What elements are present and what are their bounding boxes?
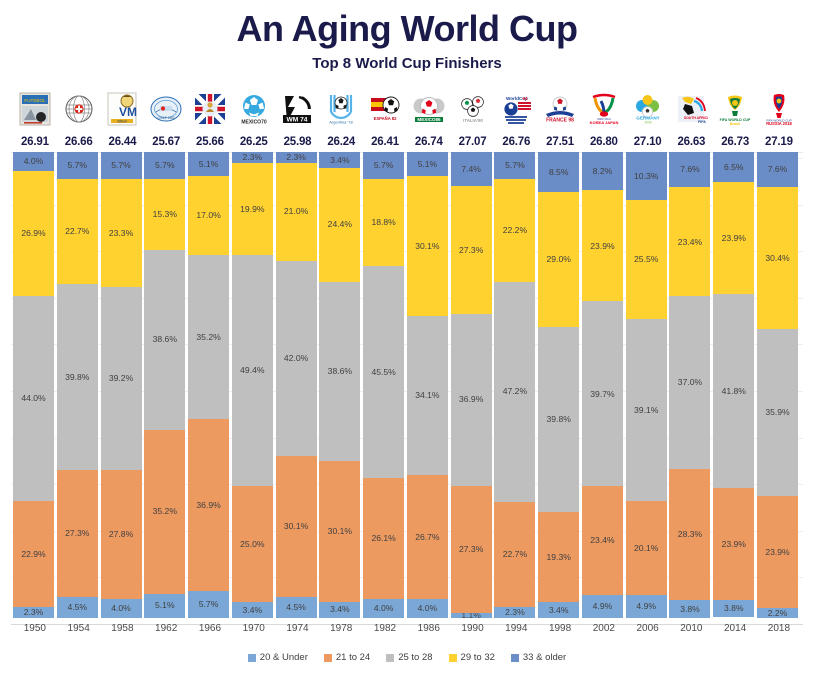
- x-axis-year-label: 1998: [538, 618, 582, 639]
- world-cup-logo-2014-brazil: FIFA WORLD CUPBrasil: [718, 92, 752, 126]
- legend-label: 21 to 24: [336, 652, 370, 663]
- segment-value-label: 23.9%: [765, 548, 789, 557]
- bar-segment-21-to-24[interactable]: 27.3%: [451, 486, 492, 613]
- world-cup-logo-1978-argentina: Argentina '78: [324, 92, 358, 126]
- world-cup-logo-1978-argentina: Argentina '78: [319, 86, 363, 131]
- world-cup-logo-1958-sweden: VMfotboll: [101, 86, 145, 131]
- bar-segment-25-to-28[interactable]: 39.2%: [101, 287, 142, 470]
- stacked-bar[interactable]: 4.0%26.9%44.0%22.9%2.3%: [13, 152, 54, 618]
- segment-value-label: 39.2%: [109, 374, 133, 383]
- bar-segment-25-to-28[interactable]: 41.8%: [713, 294, 754, 489]
- world-cup-logo-1974-west-germany: WM 74: [280, 92, 314, 126]
- bar-segment-21-to-24[interactable]: 27.3%: [57, 470, 98, 597]
- segment-value-label: 39.8%: [547, 415, 571, 424]
- segment-value-label: 37.0%: [678, 378, 702, 387]
- world-cup-logo-1998-france: FRANCE 98: [538, 86, 582, 131]
- segment-value-label: 18.8%: [371, 218, 395, 227]
- stacked-bar[interactable]: 5.7%22.2%47.2%22.7%2.3%: [494, 152, 535, 618]
- segment-value-label: 5.7%: [155, 161, 175, 170]
- bar-segment-21-to-24[interactable]: 22.9%: [13, 501, 54, 608]
- bar-segment-29-to-32[interactable]: 30.4%: [757, 187, 798, 329]
- segment-value-label: 36.9%: [459, 395, 483, 404]
- x-axis-year-label: 1982: [363, 618, 407, 639]
- segment-value-label: 29.0%: [547, 255, 571, 264]
- bar-segment-29-to-32[interactable]: 23.3%: [101, 179, 142, 288]
- bar-segment-25-to-28[interactable]: 35.9%: [757, 329, 798, 496]
- segment-value-label: 35.2%: [196, 333, 220, 342]
- segment-value-label: 5.7%: [67, 161, 87, 170]
- segment-value-label: 4.0%: [374, 604, 394, 613]
- segment-value-label: 15.3%: [153, 210, 177, 219]
- stacked-bar[interactable]: 5.1%17.0%35.2%36.9%5.7%: [188, 152, 229, 618]
- segment-value-label: 2.3%: [24, 608, 44, 617]
- svg-text:WM 74: WM 74: [287, 116, 308, 123]
- world-cup-logo-2002-korea-japan: 2002 FIFAKOREA JAPAN: [587, 92, 621, 126]
- bar-segment-20-under[interactable]: 4.0%: [101, 599, 142, 618]
- tournament-column: ESPAÑA 8226.415.7%18.8%45.5%26.1%4.0%198…: [363, 86, 407, 639]
- segment-value-label: 4.0%: [24, 157, 44, 166]
- bar-segment-21-to-24[interactable]: 35.2%: [144, 430, 185, 594]
- bar-segment-25-to-28[interactable]: 35.2%: [188, 255, 229, 419]
- svg-text:94: 94: [523, 96, 529, 101]
- tournament-column: MEXICO7026.252.3%19.9%49.4%25.0%3.4%1970: [232, 86, 276, 639]
- world-cup-logo-1954-switzerland: [57, 86, 101, 131]
- tournament-column: WorldCup9426.765.7%22.2%47.2%22.7%2.3%19…: [494, 86, 538, 639]
- svg-text:ITALIA'90: ITALIA'90: [463, 118, 483, 123]
- world-cup-logo-1958-sweden: VMfotboll: [105, 92, 139, 126]
- bar-segment-25-to-28[interactable]: 38.6%: [144, 250, 185, 430]
- x-axis-year-label: 1978: [319, 618, 363, 639]
- bar-segment-21-to-24[interactable]: 26.7%: [407, 475, 448, 599]
- segment-value-label: 30.1%: [415, 242, 439, 251]
- bar-segment-20-under[interactable]: 4.9%: [626, 595, 667, 618]
- legend-swatch-icon: [324, 654, 332, 662]
- segment-value-label: 28.3%: [678, 530, 702, 539]
- tournament-column: MEXICO8626.745.1%30.1%34.1%26.7%4.0%1986: [407, 86, 451, 639]
- bar-segment-29-to-32[interactable]: 27.3%: [451, 186, 492, 313]
- average-age-value: 26.24: [319, 131, 363, 152]
- bar-segment-29-to-32[interactable]: 23.9%: [713, 182, 754, 293]
- bar-segment-33-older[interactable]: 4.0%: [13, 152, 54, 171]
- segment-value-label: 4.9%: [593, 602, 613, 611]
- bar-segment-29-to-32[interactable]: 30.1%: [407, 176, 448, 316]
- legend-item[interactable]: 33 & older: [511, 652, 566, 663]
- x-axis-year-label: 1954: [57, 618, 101, 639]
- x-axis-year-label: 1974: [276, 618, 320, 639]
- segment-value-label: 23.9%: [722, 234, 746, 243]
- segment-value-label: 3.8%: [724, 604, 744, 613]
- bar-segment-20-under[interactable]: 3.8%: [669, 600, 710, 618]
- world-cup-logo-2010-south-africa: SOUTH AFRICAFIFA: [674, 92, 708, 126]
- average-age-value: 27.51: [538, 131, 582, 152]
- x-axis-year-label: 1994: [494, 618, 538, 639]
- segment-value-label: 22.2%: [503, 226, 527, 235]
- bar-segment-21-to-24[interactable]: 23.4%: [582, 486, 623, 595]
- svg-text:2006: 2006: [644, 120, 651, 124]
- bar-segment-20-under[interactable]: 2.3%: [13, 607, 54, 618]
- average-age-value: 26.25: [232, 131, 276, 152]
- bar-segment-33-older[interactable]: 5.1%: [188, 152, 229, 176]
- segment-value-label: 20.1%: [634, 544, 658, 553]
- segment-value-label: 38.6%: [328, 367, 352, 376]
- stacked-bar[interactable]: 2.3%21.0%42.0%30.1%4.5%: [276, 152, 317, 618]
- bar-segment-29-to-32[interactable]: 15.3%: [144, 179, 185, 250]
- bar-segment-20-under[interactable]: 5.7%: [188, 591, 229, 618]
- stacked-bar[interactable]: 5.1%30.1%34.1%26.7%4.0%: [407, 152, 448, 618]
- legend-label: 33 & older: [523, 652, 566, 663]
- tournament-column: FUTEBOL26.914.0%26.9%44.0%22.9%2.3%1950: [13, 86, 57, 639]
- tournament-column: CHILE 196225.675.7%15.3%38.6%35.2%5.1%19…: [144, 86, 188, 639]
- segment-value-label: 22.7%: [503, 550, 527, 559]
- legend-label: 20 & Under: [260, 652, 308, 663]
- bar-segment-20-under[interactable]: 4.9%: [582, 595, 623, 618]
- segment-value-label: 2.3%: [286, 153, 306, 162]
- average-age-value: 26.41: [363, 131, 407, 152]
- world-cup-logo-1974-west-germany: WM 74: [276, 86, 320, 131]
- segment-value-label: 5.1%: [199, 160, 219, 169]
- segment-value-label: 35.9%: [765, 408, 789, 417]
- segment-value-label: 38.6%: [153, 335, 177, 344]
- legend-swatch-icon: [511, 654, 519, 662]
- bar-segment-21-to-24[interactable]: 25.0%: [232, 486, 273, 603]
- segment-value-label: 3.4%: [330, 605, 350, 614]
- bar-segment-33-older[interactable]: 5.7%: [57, 152, 98, 179]
- segment-value-label: 26.7%: [415, 533, 439, 542]
- svg-text:FUTEBOL: FUTEBOL: [24, 98, 46, 103]
- segment-value-label: 42.0%: [284, 354, 308, 363]
- segment-value-label: 4.0%: [111, 604, 131, 613]
- segment-value-label: 19.3%: [547, 553, 571, 562]
- segment-value-label: 39.1%: [634, 406, 658, 415]
- bar-segment-29-to-32[interactable]: 21.0%: [276, 163, 317, 261]
- segment-value-label: 4.0%: [418, 604, 438, 613]
- bar-segment-20-under[interactable]: 4.0%: [407, 599, 448, 618]
- x-axis-year-label: 2014: [713, 618, 757, 639]
- bar-segment-33-older[interactable]: 2.3%: [276, 152, 317, 163]
- bar-segment-29-to-32[interactable]: 17.0%: [188, 176, 229, 255]
- segment-value-label: 30.1%: [284, 522, 308, 531]
- segment-value-label: 22.7%: [65, 227, 89, 236]
- bar-segment-20-under[interactable]: 1.1%: [451, 613, 492, 618]
- bar-segment-21-to-24[interactable]: 20.1%: [626, 501, 667, 595]
- segment-value-label: 19.9%: [240, 205, 264, 214]
- world-cup-logo-1966-england: [188, 86, 232, 131]
- segment-value-label: 5.1%: [155, 601, 175, 610]
- stacked-bar[interactable]: 5.7%22.7%39.8%27.3%4.5%: [57, 152, 98, 618]
- bar-segment-25-to-28[interactable]: 39.8%: [57, 284, 98, 469]
- segment-value-label: 23.3%: [109, 229, 133, 238]
- bar-segment-33-older[interactable]: 5.7%: [144, 152, 185, 179]
- bar-segment-25-to-28[interactable]: 42.0%: [276, 261, 317, 457]
- bar-segment-20-under[interactable]: 5.1%: [144, 594, 185, 618]
- bar-segment-20-under[interactable]: 3.8%: [713, 600, 754, 618]
- world-cup-logo-2018-russia: FIFA WORLD CUPRUSSIA 2018: [762, 92, 796, 126]
- bar-segment-33-older[interactable]: 5.7%: [363, 152, 404, 179]
- x-axis-year-label: 1986: [407, 618, 451, 639]
- segment-value-label: 8.2%: [593, 167, 613, 176]
- chart-legend: 20 & Under21 to 2425 to 2829 to 3233 & o…: [0, 652, 814, 663]
- segment-value-label: 2.3%: [243, 153, 263, 162]
- stacked-bar[interactable]: 2.3%19.9%49.4%25.0%3.4%: [232, 152, 273, 618]
- svg-text:fotboll: fotboll: [118, 119, 127, 123]
- world-cup-logo-2014-brazil: FIFA WORLD CUPBrasil: [713, 86, 757, 131]
- tournament-column: Argentina '7826.243.4%24.4%38.6%30.1%3.4…: [319, 86, 363, 639]
- average-age-value: 26.66: [57, 131, 101, 152]
- bar-segment-29-to-32[interactable]: 22.7%: [57, 179, 98, 285]
- segment-value-label: 27.3%: [459, 545, 483, 554]
- svg-text:KOREA JAPAN: KOREA JAPAN: [589, 120, 618, 125]
- tournament-column: 2002 FIFAKOREA JAPAN26.808.2%23.9%39.7%2…: [582, 86, 626, 639]
- stacked-bar[interactable]: 7.6%23.4%37.0%28.3%3.8%: [669, 152, 710, 618]
- segment-value-label: 10.3%: [634, 172, 658, 181]
- svg-text:VM: VM: [119, 105, 137, 119]
- segment-value-label: 35.2%: [153, 507, 177, 516]
- world-cup-logo-1970-mexico: MEXICO70: [232, 86, 276, 131]
- world-cup-logo-1970-mexico: MEXICO70: [237, 92, 271, 126]
- bar-segment-29-to-32[interactable]: 25.5%: [626, 200, 667, 319]
- average-age-value: 26.91: [13, 131, 57, 152]
- average-age-value: 25.67: [144, 131, 188, 152]
- average-age-value: 27.10: [626, 131, 670, 152]
- bar-segment-21-to-24[interactable]: 22.7%: [494, 502, 535, 608]
- tournament-column: FIFA WORLD CUPBrasil26.736.5%23.9%41.8%2…: [713, 86, 757, 639]
- tournament-column: GERMANY200627.1010.3%25.5%39.1%20.1%4.9%…: [626, 86, 670, 639]
- stacked-bar[interactable]: 5.7%23.3%39.2%27.8%4.0%: [101, 152, 142, 618]
- bar-segment-21-to-24[interactable]: 19.3%: [538, 512, 579, 602]
- x-axis-year-label: 1950: [13, 618, 57, 639]
- average-age-value: 26.80: [582, 131, 626, 152]
- world-cup-logo-1982-spain: ESPAÑA 82: [363, 86, 407, 131]
- segment-value-label: 5.1%: [418, 160, 438, 169]
- segment-value-label: 1.1%: [461, 613, 481, 618]
- segment-value-label: 4.9%: [636, 602, 656, 611]
- world-cup-logo-1954-switzerland: [62, 92, 96, 126]
- segment-value-label: 39.7%: [590, 390, 614, 399]
- segment-value-label: 34.1%: [415, 391, 439, 400]
- bar-segment-21-to-24[interactable]: 30.1%: [319, 461, 360, 601]
- svg-text:RUSSIA 2018: RUSSIA 2018: [766, 121, 792, 126]
- bar-segment-20-under[interactable]: 3.4%: [232, 602, 273, 618]
- bar-segment-29-to-32[interactable]: 23.9%: [582, 190, 623, 301]
- page-title: An Aging World Cup: [0, 8, 814, 50]
- bar-segment-20-under[interactable]: 4.0%: [363, 599, 404, 618]
- bar-segment-25-to-28[interactable]: 37.0%: [669, 296, 710, 468]
- bar-segment-29-to-32[interactable]: 23.4%: [669, 187, 710, 296]
- bar-segment-20-under[interactable]: 3.4%: [319, 602, 360, 618]
- bar-segment-25-to-28[interactable]: 39.8%: [538, 327, 579, 512]
- bar-segment-21-to-24[interactable]: 36.9%: [188, 419, 229, 591]
- bar-segment-29-to-32[interactable]: 22.2%: [494, 179, 535, 282]
- segment-value-label: 5.7%: [505, 161, 525, 170]
- stacked-bar[interactable]: 8.2%23.9%39.7%23.4%4.9%: [582, 152, 623, 618]
- bar-segment-25-to-28[interactable]: 45.5%: [363, 266, 404, 478]
- bar-segment-25-to-28[interactable]: 47.2%: [494, 282, 535, 502]
- x-axis-year-label: 1970: [232, 618, 276, 639]
- bar-segment-33-older[interactable]: 5.1%: [407, 152, 448, 176]
- x-axis-year-label: 2002: [582, 618, 626, 639]
- legend-label: 25 to 28: [398, 652, 432, 663]
- world-cup-logo-1986-mexico: MEXICO86: [407, 86, 451, 131]
- segment-value-label: 5.7%: [374, 161, 394, 170]
- bar-segment-33-older[interactable]: 7.4%: [451, 152, 492, 186]
- average-age-value: 26.76: [494, 131, 538, 152]
- world-cup-logo-1962-chile: CHILE 1962: [149, 92, 183, 126]
- bar-segment-25-to-28[interactable]: 36.9%: [451, 314, 492, 486]
- segment-value-label: 6.5%: [724, 163, 744, 172]
- stacked-bar[interactable]: 8.5%29.0%39.8%19.3%3.4%: [538, 152, 579, 618]
- chart-canvas: An Aging World Cup Top 8 World Cup Finis…: [0, 0, 814, 675]
- bar-segment-21-to-24[interactable]: 26.1%: [363, 478, 404, 600]
- bar-segment-21-to-24[interactable]: 23.9%: [713, 488, 754, 599]
- stacked-bar[interactable]: 5.7%18.8%45.5%26.1%4.0%: [363, 152, 404, 618]
- svg-text:FIFA: FIFA: [698, 120, 706, 124]
- bar-segment-20-under[interactable]: 2.2%: [757, 608, 798, 618]
- stacked-bar[interactable]: 10.3%25.5%39.1%20.1%4.9%: [626, 152, 667, 618]
- average-age-value: 27.19: [757, 131, 801, 152]
- bar-segment-25-to-28[interactable]: 34.1%: [407, 316, 448, 475]
- segment-value-label: 21.0%: [284, 207, 308, 216]
- stacked-bar[interactable]: 3.4%24.4%38.6%30.1%3.4%: [319, 152, 360, 618]
- segment-value-label: 39.8%: [65, 373, 89, 382]
- segment-value-label: 30.4%: [765, 254, 789, 263]
- x-axis-year-label: 2018: [757, 618, 801, 639]
- segment-value-label: 22.9%: [21, 550, 45, 559]
- segment-value-label: 23.4%: [590, 536, 614, 545]
- world-cup-logo-2010-south-africa: SOUTH AFRICAFIFA: [669, 86, 713, 131]
- bar-segment-25-to-28[interactable]: 39.1%: [626, 319, 667, 501]
- segment-value-label: 23.4%: [678, 238, 702, 247]
- average-age-value: 27.07: [451, 131, 495, 152]
- segment-value-label: 7.4%: [461, 165, 481, 174]
- bar-segment-29-to-32[interactable]: 24.4%: [319, 168, 360, 282]
- segment-value-label: 7.6%: [680, 165, 700, 174]
- bar-segment-33-older[interactable]: 8.2%: [582, 152, 623, 190]
- segment-value-label: 2.3%: [505, 608, 525, 617]
- segment-value-label: 45.5%: [371, 368, 395, 377]
- bar-segment-33-older[interactable]: 8.5%: [538, 152, 579, 192]
- svg-text:MEXICO70: MEXICO70: [241, 119, 267, 125]
- segment-value-label: 26.1%: [371, 534, 395, 543]
- stacked-bar[interactable]: 5.7%15.3%38.6%35.2%5.1%: [144, 152, 185, 618]
- bar-segment-33-older[interactable]: 6.5%: [713, 152, 754, 182]
- bar-segment-33-older[interactable]: 7.6%: [757, 152, 798, 187]
- segment-value-label: 23.9%: [722, 540, 746, 549]
- stacked-bar[interactable]: 7.6%30.4%35.9%23.9%2.2%: [757, 152, 798, 618]
- world-cup-logo-1950-brazil: FUTEBOL: [13, 86, 57, 131]
- bar-segment-29-to-32[interactable]: 18.8%: [363, 179, 404, 267]
- legend-label: 29 to 32: [461, 652, 495, 663]
- world-cup-logo-2006-germany: GERMANY2006: [631, 92, 665, 126]
- bar-segment-20-under[interactable]: 3.4%: [538, 602, 579, 618]
- page-subtitle: Top 8 World Cup Finishers: [0, 55, 814, 72]
- x-axis-year-label: 2010: [669, 618, 713, 639]
- bar-segment-29-to-32[interactable]: 26.9%: [13, 171, 54, 296]
- svg-text:Argentina '78: Argentina '78: [330, 119, 354, 124]
- segment-value-label: 17.0%: [196, 211, 220, 220]
- bar-segment-25-to-28[interactable]: 39.7%: [582, 301, 623, 486]
- average-age-value: 26.73: [713, 131, 757, 152]
- segment-value-label: 4.5%: [67, 603, 87, 612]
- average-age-value: 25.98: [276, 131, 320, 152]
- svg-text:FRANCE 98: FRANCE 98: [546, 117, 574, 123]
- world-cup-logo-1982-spain: ESPAÑA 82: [368, 92, 402, 126]
- segment-value-label: 27.3%: [459, 246, 483, 255]
- segment-value-label: 2.2%: [768, 609, 788, 618]
- bar-segment-20-under[interactable]: 2.3%: [494, 607, 535, 618]
- bar-segment-21-to-24[interactable]: 30.1%: [276, 456, 317, 596]
- stacked-bar[interactable]: 7.4%27.3%36.9%27.3%1.1%: [451, 152, 492, 618]
- segment-value-label: 3.4%: [243, 606, 263, 615]
- bar-segment-33-older[interactable]: 10.3%: [626, 152, 667, 200]
- tournament-column: 25.665.1%17.0%35.2%36.9%5.7%1966: [188, 86, 232, 639]
- bar-segment-20-under[interactable]: 4.5%: [276, 597, 317, 618]
- segment-value-label: 25.0%: [240, 540, 264, 549]
- segment-value-label: 47.2%: [503, 387, 527, 396]
- legend-item[interactable]: 20 & Under: [248, 652, 308, 663]
- segment-value-label: 27.3%: [65, 529, 89, 538]
- tournament-column: FIFA WORLD CUPRUSSIA 201827.197.6%30.4%3…: [757, 86, 801, 639]
- world-cup-logo-1998-france: FRANCE 98: [543, 92, 577, 126]
- world-cup-logo-2018-russia: FIFA WORLD CUPRUSSIA 2018: [757, 86, 801, 131]
- bar-segment-29-to-32[interactable]: 29.0%: [538, 192, 579, 327]
- segment-value-label: 4.5%: [286, 603, 306, 612]
- world-cup-logo-1994-usa: WorldCup94: [499, 92, 533, 126]
- average-age-value: 26.44: [101, 131, 145, 152]
- bar-segment-33-older[interactable]: 5.7%: [101, 152, 142, 179]
- segment-value-label: 5.7%: [199, 600, 219, 609]
- bar-columns: FUTEBOL26.914.0%26.9%44.0%22.9%2.3%19502…: [13, 86, 801, 639]
- bar-segment-33-older[interactable]: 3.4%: [319, 152, 360, 168]
- legend-item[interactable]: 25 to 28: [386, 652, 432, 663]
- x-axis-year-label: 1966: [188, 618, 232, 639]
- bar-segment-21-to-24[interactable]: 28.3%: [669, 469, 710, 601]
- x-axis-year-label: 1990: [451, 618, 495, 639]
- average-age-value: 25.66: [188, 131, 232, 152]
- world-cup-logo-1990-italy: ITALIA'90: [451, 86, 495, 131]
- bar-segment-20-under[interactable]: 4.5%: [57, 597, 98, 618]
- segment-value-label: 49.4%: [240, 366, 264, 375]
- bar-segment-21-to-24[interactable]: 23.9%: [757, 496, 798, 607]
- bar-segment-25-to-28[interactable]: 49.4%: [232, 255, 273, 485]
- x-axis-year-label: 2006: [626, 618, 670, 639]
- segment-value-label: 27.8%: [109, 530, 133, 539]
- world-cup-logo-1966-england: [193, 92, 227, 126]
- bar-segment-33-older[interactable]: 5.7%: [494, 152, 535, 179]
- svg-text:MEXICO86: MEXICO86: [417, 117, 441, 122]
- segment-value-label: 3.4%: [549, 606, 569, 615]
- bar-segment-29-to-32[interactable]: 19.9%: [232, 163, 273, 256]
- world-cup-logo-1950-brazil: FUTEBOL: [18, 92, 52, 126]
- average-age-value: 26.74: [407, 131, 451, 152]
- segment-value-label: 7.6%: [768, 165, 788, 174]
- tournament-column: FRANCE 9827.518.5%29.0%39.8%19.3%3.4%199…: [538, 86, 582, 639]
- legend-item[interactable]: 21 to 24: [324, 652, 370, 663]
- bar-segment-33-older[interactable]: 7.6%: [669, 152, 710, 187]
- bar-segment-25-to-28[interactable]: 44.0%: [13, 296, 54, 501]
- bar-segment-25-to-28[interactable]: 38.6%: [319, 282, 360, 462]
- tournament-column: VMfotboll26.445.7%23.3%39.2%27.8%4.0%195…: [101, 86, 145, 639]
- legend-item[interactable]: 29 to 32: [449, 652, 495, 663]
- segment-value-label: 5.7%: [111, 161, 131, 170]
- legend-swatch-icon: [386, 654, 394, 662]
- segment-value-label: 41.8%: [722, 387, 746, 396]
- segment-value-label: 8.5%: [549, 168, 569, 177]
- bar-segment-21-to-24[interactable]: 27.8%: [101, 470, 142, 600]
- bar-segment-33-older[interactable]: 2.3%: [232, 152, 273, 163]
- legend-swatch-icon: [449, 654, 457, 662]
- stacked-bar[interactable]: 6.5%23.9%41.8%23.9%3.8%: [713, 152, 754, 618]
- world-cup-logo-2002-korea-japan: 2002 FIFAKOREA JAPAN: [582, 86, 626, 131]
